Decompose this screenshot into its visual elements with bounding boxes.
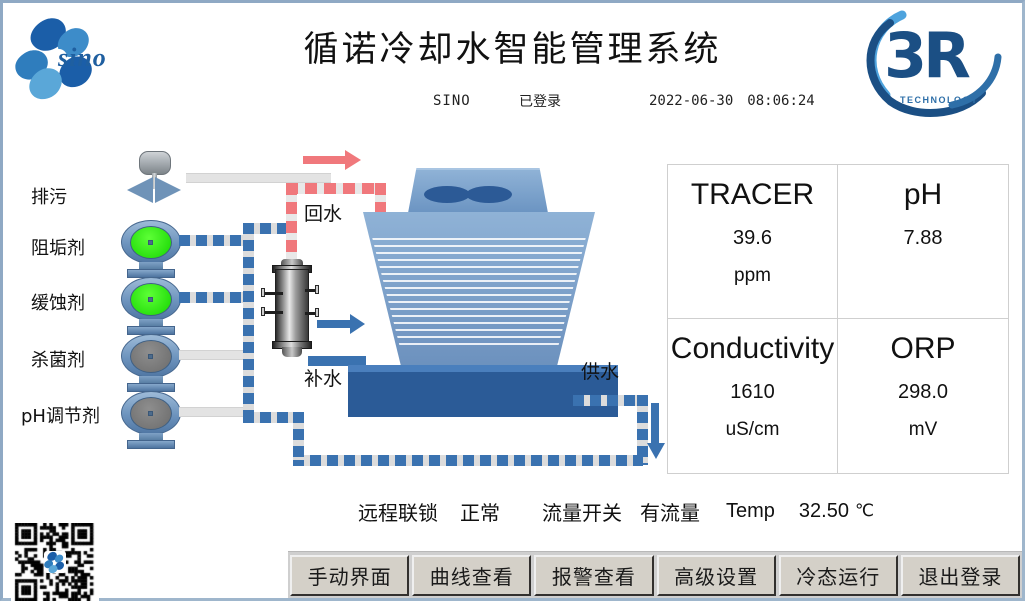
vessel-foot-icon (282, 347, 302, 357)
session-date: 2022-06-30 (649, 93, 733, 109)
vessel-port-left-lower (263, 311, 283, 314)
measurement-unit: ppm (734, 265, 771, 287)
remote-interlock-value: 正常 (460, 497, 500, 526)
tower-louvers (363, 238, 595, 348)
measurement-name: pH (904, 177, 942, 213)
measurement-unit: uS/cm (726, 419, 780, 441)
header: sino 循诺冷却水智能管理系统 SINO 已登录 2022-06-30 08:… (3, 3, 1022, 131)
session-user: SINO (433, 93, 519, 109)
flow-switch-value: 有流量 (640, 497, 700, 526)
pump-shaft-icon (148, 240, 153, 245)
valve-body-right-icon (155, 177, 181, 203)
measurement-value: 298.0 (898, 381, 948, 404)
button-manual-screen[interactable]: 手动界面 (290, 555, 409, 596)
pump-biocide[interactable] (121, 334, 183, 394)
dosing-line-ph-adjuster (179, 407, 249, 417)
temp-unit: ℃ (855, 501, 874, 521)
chem-label-antiscalant: 阻垢剂 (31, 234, 85, 260)
remote-interlock-label: 远程联锁 (358, 497, 438, 526)
sensor-vessel[interactable] (271, 259, 313, 357)
pump-base-icon (127, 440, 175, 449)
valve-body-left-icon (127, 177, 153, 203)
temp-label: Temp (726, 500, 775, 523)
pump-shaft-icon (148, 297, 153, 302)
chem-label-inhibitor: 缓蚀剂 (31, 289, 85, 315)
return-line-vertical-left (286, 183, 297, 265)
measurement-tracer[interactable]: TRACER 39.6 ppm (668, 165, 838, 319)
temp-value: 32.50 (799, 500, 849, 523)
navigation-button-bar: 手动界面 曲线查看 报警查看 高级设置 冷态运行 退出登录 (288, 551, 1022, 598)
sino-flower-icon-small (44, 551, 66, 573)
dosing-line-inhibitor (179, 292, 249, 303)
chem-label-biocide: 杀菌剂 (31, 346, 85, 372)
partner-logo-tagline: TECHNOLOGY (900, 95, 979, 105)
session-time: 08:06:24 (747, 93, 814, 109)
tower-fan-blade-left-icon (424, 186, 470, 203)
cooling-tower (348, 168, 648, 423)
button-cold-start-run[interactable]: 冷态运行 (779, 555, 898, 596)
pump-antiscalant[interactable] (121, 220, 183, 280)
flow-switch-label: 流量开关 (542, 497, 622, 526)
vessel-port-left-upper (263, 292, 283, 295)
measurement-value: 39.6 (733, 227, 772, 250)
return-flow-arrow-icon (303, 155, 361, 165)
measurement-name: Conductivity (671, 331, 834, 367)
process-status-bar: 远程联锁 正常 流量开关 有流量 Temp 32.50 ℃ (358, 495, 1018, 527)
measurement-name: TRACER (691, 177, 814, 213)
label-makeup-water: 补水 (304, 364, 342, 391)
pump-shaft-icon (148, 411, 153, 416)
chem-label-blowdown: 排污 (31, 183, 67, 209)
button-alarm-view[interactable]: 报警查看 (534, 555, 653, 596)
label-return-water: 回水 (304, 199, 342, 226)
vessel-shell-icon (275, 269, 309, 345)
measurement-unit: mV (909, 419, 938, 441)
label-supply-water: 供水 (581, 357, 619, 384)
measurement-conductivity[interactable]: Conductivity 1610 uS/cm (668, 319, 838, 473)
chem-label-ph-adjuster: pH调节剂 (21, 402, 100, 428)
dosing-line-biocide (179, 350, 249, 360)
pump-ph-adjuster[interactable] (121, 391, 183, 451)
dosing-line-antiscalant (179, 235, 249, 246)
measurement-name: ORP (890, 331, 955, 367)
supply-flow-arrow-icon (647, 403, 663, 461)
measurement-value: 1610 (730, 381, 775, 404)
blowdown-valve[interactable] (121, 151, 187, 203)
blowdown-pipe (186, 173, 331, 183)
qr-code[interactable] (11, 523, 99, 601)
pump-shaft-icon (148, 354, 153, 359)
button-trend-view[interactable]: 曲线查看 (412, 555, 531, 596)
partner-logo-mark: 3R (884, 25, 967, 87)
partner-logo-3r: 3R TECHNOLOGY (856, 7, 1004, 119)
vessel-port-cap-3 (315, 285, 319, 294)
session-login-state: 已登录 (519, 91, 649, 111)
vessel-port-cap-1 (261, 288, 265, 297)
session-status: SINO 已登录 2022-06-30 08:06:24 (433, 91, 815, 111)
tower-basin (348, 365, 618, 417)
treatment-loop-left (243, 223, 254, 423)
measurement-value: 7.88 (904, 227, 943, 250)
button-advanced-settings[interactable]: 高级设置 (657, 555, 776, 596)
valve-actuator-icon (139, 151, 171, 175)
vessel-port-cap-4 (315, 308, 319, 317)
vessel-port-cap-2 (261, 307, 265, 316)
measurement-panel: TRACER 39.6 ppm pH 7.88 Conductivity 161… (667, 164, 1009, 474)
measurement-orp[interactable]: ORP 298.0 mV (838, 319, 1008, 473)
tower-fan-blade-right-icon (466, 186, 512, 203)
supply-line-riser (293, 412, 304, 460)
pump-inhibitor[interactable] (121, 277, 183, 337)
measurement-ph[interactable]: pH 7.88 (838, 165, 1008, 319)
button-logout[interactable]: 退出登录 (901, 555, 1020, 596)
qr-center-logo (44, 551, 66, 573)
supply-line-bottom (293, 455, 643, 466)
hmi-screen: sino 循诺冷却水智能管理系统 SINO 已登录 2022-06-30 08:… (0, 0, 1025, 601)
